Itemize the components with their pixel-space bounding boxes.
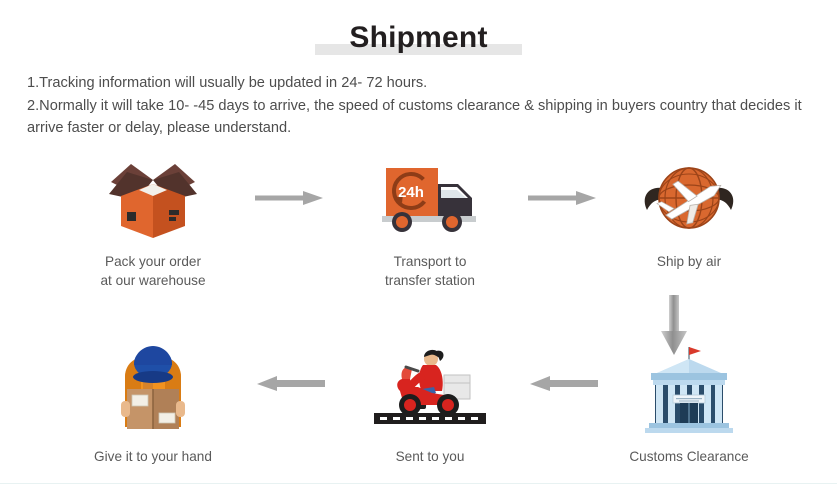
flow-step-caption: Ship by air <box>594 253 784 272</box>
caption-line-1: Transport to <box>394 254 467 269</box>
flow-step-caption: Customs Clearance <box>594 448 784 467</box>
shipment-flow: Pack your order at our warehouse <box>0 150 837 484</box>
arrow-left-2 <box>528 373 598 395</box>
delivery-truck-art: 24h <box>335 150 525 242</box>
open-box-icon <box>101 150 205 242</box>
caption-line-1: Give it to your hand <box>94 449 212 464</box>
flow-step-sent-to-you: Sent to you <box>335 345 525 467</box>
caption-line-1: Pack your order <box>105 254 201 269</box>
globe-airplane-art <box>594 150 784 242</box>
truck-24h-badge: 24h <box>398 184 424 201</box>
caption-line-1: Sent to you <box>396 449 465 464</box>
caption-line-1: Ship by air <box>657 254 721 269</box>
caption-line-1: Customs Clearance <box>629 449 748 464</box>
open-box-art <box>58 150 248 242</box>
arrow-left-icon <box>528 373 598 395</box>
note-line-1: 1.Tracking information will usually be u… <box>27 72 817 95</box>
flow-step-caption: Sent to you <box>335 448 525 467</box>
globe-airplane-icon <box>637 150 741 242</box>
arrow-right-icon <box>528 188 598 208</box>
page-title-inner: Shipment <box>343 18 493 58</box>
shipment-infographic: Shipment 1.Tracking information will usu… <box>0 0 837 484</box>
arrow-right-icon <box>255 188 325 208</box>
courier-handoff-icon <box>101 341 205 437</box>
caption-line-2: transfer station <box>385 273 475 288</box>
page-title-wrap: Shipment <box>0 18 837 58</box>
flow-step-ship-by-air: Ship by air <box>594 150 784 272</box>
flow-step-transport: 24h Transport to transfer station <box>335 150 525 290</box>
flow-step-pack-order: Pack your order at our warehouse <box>58 150 248 290</box>
flow-step-caption: Transport to transfer station <box>335 253 525 290</box>
arrow-right-2 <box>528 188 598 208</box>
flow-step-give-to-hand: Give it to your hand <box>58 345 248 467</box>
customs-building-art <box>594 345 784 437</box>
customs-building-icon <box>633 341 745 437</box>
scooter-delivery-art <box>335 345 525 437</box>
scooter-delivery-icon <box>374 341 486 437</box>
flow-step-caption: Pack your order at our warehouse <box>58 253 248 290</box>
delivery-truck-24h-icon: 24h <box>378 150 482 242</box>
flow-step-caption: Give it to your hand <box>58 448 248 467</box>
flow-row-1: Pack your order at our warehouse <box>0 150 837 305</box>
shipment-notes: 1.Tracking information will usually be u… <box>27 72 817 140</box>
arrow-left-icon <box>255 373 325 395</box>
page-title: Shipment <box>349 21 487 54</box>
flow-step-customs-clearance: Customs Clearance <box>594 345 784 467</box>
note-line-2: 2.Normally it will take 10- -45 days to … <box>27 95 817 140</box>
arrow-right-1 <box>255 188 325 208</box>
flow-row-2: Give it to your hand <box>0 345 837 484</box>
caption-line-2: at our warehouse <box>100 273 205 288</box>
arrow-left-1 <box>255 373 325 395</box>
courier-handoff-art <box>58 345 248 437</box>
